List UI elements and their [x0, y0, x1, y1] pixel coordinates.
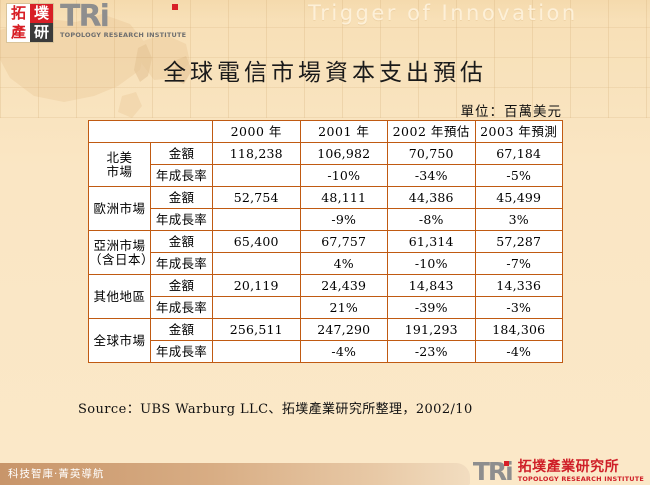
cell-growth: -7% [475, 253, 563, 275]
header-logo-badge: 拓 墣 產 研 [6, 3, 54, 43]
cell-amount: 45,499 [475, 187, 563, 209]
metric-label-amount: 金額 [151, 187, 213, 209]
table-row: 全球市場 金額 256,511 247,290 191,293 184,306 [89, 319, 563, 341]
header-logo-subtitle: TOPOLOGY RESEARCH INSTITUTE [60, 31, 186, 39]
badge-char-4: 研 [30, 23, 53, 42]
row-label-line-1: 歐洲市場 [89, 202, 150, 215]
cell-growth [213, 341, 301, 363]
table-body: 2000 年 2001 年 2002 年預估 2003 年預測 北美 市場 金額… [89, 121, 563, 363]
metric-label-growth: 年成長率 [151, 253, 213, 275]
row-label-line-1: 其他地區 [89, 290, 150, 303]
badge-char-2: 墣 [30, 4, 53, 23]
footer-tagline: 科技智庫‧菁英導航 [8, 466, 104, 481]
slide-canvas: Trigger of Innovation 拓 墣 產 研 TRi TOPOLO… [0, 0, 650, 485]
cell-amount: 67,757 [300, 231, 388, 253]
row-label-asia: 亞洲市場 （含日本） [89, 231, 151, 275]
cell-growth: 4% [300, 253, 388, 275]
badge-char-3: 產 [7, 23, 30, 42]
footer-logo: TRi 拓墣產業研究所 TOPOLOGY RESEARCH INSTITUTE [473, 460, 644, 483]
cell-amount: 67,184 [475, 143, 563, 165]
footer-logo-names: 拓墣產業研究所 TOPOLOGY RESEARCH INSTITUTE [518, 460, 644, 483]
cell-amount: 70,750 [388, 143, 476, 165]
row-label-line-1: 全球市場 [89, 334, 150, 347]
cell-amount: 57,287 [475, 231, 563, 253]
red-dot-icon [504, 461, 509, 466]
table-header-row: 2000 年 2001 年 2002 年預估 2003 年預測 [89, 121, 563, 143]
footer-logo-wordmark: TRi [473, 461, 514, 483]
metric-label-growth: 年成長率 [151, 209, 213, 231]
column-header-2002: 2002 年預估 [388, 121, 476, 143]
page-title: 全球電信市場資本支出預估 [0, 53, 650, 87]
source-note: Source：UBS Warburg LLC、拓墣產業研究所整理，2002/10 [78, 398, 473, 417]
column-header-2000: 2000 年 [213, 121, 301, 143]
header-logo-wordmark-group: TRi TOPOLOGY RESEARCH INSTITUTE [60, 3, 186, 39]
row-label-north-america: 北美 市場 [89, 143, 151, 187]
cell-growth [213, 209, 301, 231]
badge-char-1: 拓 [7, 4, 30, 23]
row-label-europe: 歐洲市場 [89, 187, 151, 231]
cell-growth: -5% [475, 165, 563, 187]
cell-amount: 61,314 [388, 231, 476, 253]
cell-growth: -34% [388, 165, 476, 187]
data-table-wrapper: 2000 年 2001 年 2002 年預估 2003 年預測 北美 市場 金額… [88, 120, 562, 363]
table-row: 亞洲市場 （含日本） 金額 65,400 67,757 61,314 57,28… [89, 231, 563, 253]
table-row: 年成長率 -4% -23% -4% [89, 341, 563, 363]
header-logo-wordmark: TRi [60, 4, 186, 30]
header-logo-wordmark-text: TRi [60, 0, 108, 34]
cell-amount: 184,306 [475, 319, 563, 341]
table-row: 其他地區 金額 20,119 24,439 14,843 14,336 [89, 275, 563, 297]
metric-label-amount: 金額 [151, 231, 213, 253]
cell-growth: -8% [388, 209, 476, 231]
cell-growth: -10% [300, 165, 388, 187]
table-row: 年成長率 21% -39% -3% [89, 297, 563, 319]
cell-amount: 14,843 [388, 275, 476, 297]
metric-label-amount: 金額 [151, 143, 213, 165]
cell-growth: -9% [300, 209, 388, 231]
cell-growth [213, 297, 301, 319]
cell-amount: 191,293 [388, 319, 476, 341]
cell-growth [213, 165, 301, 187]
footer-logo-name-cn: 拓墣產業研究所 [518, 460, 644, 475]
row-label-global: 全球市場 [89, 319, 151, 363]
footer-logo-name-en: TOPOLOGY RESEARCH INSTITUTE [518, 475, 644, 483]
table-row: 年成長率 -9% -8% 3% [89, 209, 563, 231]
table-row: 年成長率 4% -10% -7% [89, 253, 563, 275]
cell-growth: -39% [388, 297, 476, 319]
metric-label-amount: 金額 [151, 319, 213, 341]
slide-footer: 科技智庫‧菁英導航 TRi 拓墣產業研究所 TOPOLOGY RESEARCH … [0, 457, 650, 485]
table-row: 年成長率 -10% -34% -5% [89, 165, 563, 187]
cell-amount: 44,386 [388, 187, 476, 209]
capex-forecast-table: 2000 年 2001 年 2002 年預估 2003 年預測 北美 市場 金額… [88, 120, 563, 363]
row-label-line-2: 市場 [89, 165, 150, 178]
cell-amount: 52,754 [213, 187, 301, 209]
metric-label-growth: 年成長率 [151, 297, 213, 319]
cell-amount: 65,400 [213, 231, 301, 253]
cell-amount: 24,439 [300, 275, 388, 297]
cell-amount: 247,290 [300, 319, 388, 341]
unit-note: 單位：百萬美元 [461, 100, 563, 120]
cell-amount: 106,982 [300, 143, 388, 165]
cell-growth: 21% [300, 297, 388, 319]
cell-amount: 14,336 [475, 275, 563, 297]
cell-growth: -23% [388, 341, 476, 363]
cell-amount: 118,238 [213, 143, 301, 165]
header-logo: 拓 墣 產 研 TRi TOPOLOGY RESEARCH INSTITUTE [6, 3, 186, 43]
tagline-trigger-of-innovation: Trigger of Innovation [308, 1, 578, 25]
row-label-other-regions: 其他地區 [89, 275, 151, 319]
header-corner-cell [89, 121, 213, 143]
row-label-line-1: 亞洲市場 [89, 239, 150, 252]
table-row: 北美 市場 金額 118,238 106,982 70,750 67,184 [89, 143, 563, 165]
metric-label-growth: 年成長率 [151, 341, 213, 363]
red-dot-icon [172, 4, 178, 10]
row-label-line-1: 北美 [89, 151, 150, 164]
row-label-line-2: （含日本） [89, 253, 150, 266]
cell-growth: -4% [475, 341, 563, 363]
cell-growth: 3% [475, 209, 563, 231]
metric-label-growth: 年成長率 [151, 165, 213, 187]
cell-growth [213, 253, 301, 275]
table-row: 歐洲市場 金額 52,754 48,111 44,386 45,499 [89, 187, 563, 209]
cell-amount: 48,111 [300, 187, 388, 209]
column-header-2003: 2003 年預測 [475, 121, 563, 143]
metric-label-amount: 金額 [151, 275, 213, 297]
cell-growth: -10% [388, 253, 476, 275]
cell-growth: -4% [300, 341, 388, 363]
cell-amount: 256,511 [213, 319, 301, 341]
column-header-2001: 2001 年 [300, 121, 388, 143]
cell-amount: 20,119 [213, 275, 301, 297]
cell-growth: -3% [475, 297, 563, 319]
